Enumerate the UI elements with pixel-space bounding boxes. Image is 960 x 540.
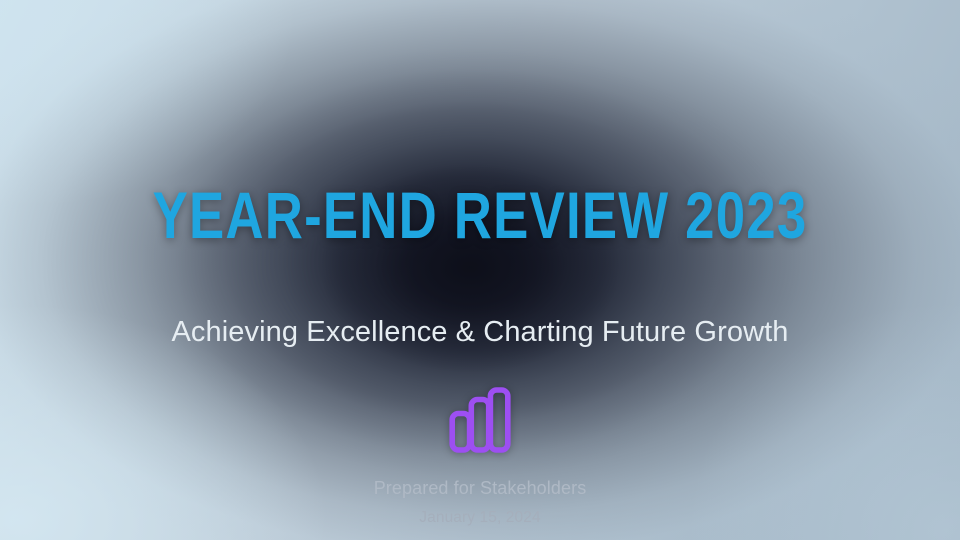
slide-subtitle: Achieving Excellence & Charting Future G… <box>0 315 960 350</box>
slide-content: YEAR-END REVIEW 2023 Achieving Excellenc… <box>0 0 960 540</box>
slide-date: January 15, 2024 <box>0 509 960 528</box>
slide-title: YEAR-END REVIEW 2023 <box>96 182 864 248</box>
presentation-title-slide: YEAR-END REVIEW 2023 Achieving Excellenc… <box>0 0 960 540</box>
bar-chart-bar-3 <box>490 390 507 450</box>
bar-chart-icon <box>0 384 960 456</box>
bar-chart-bar-2 <box>471 400 488 451</box>
bar-chart-bar-1 <box>452 414 469 451</box>
prepared-for-label: Prepared for Stakeholders <box>0 478 960 500</box>
